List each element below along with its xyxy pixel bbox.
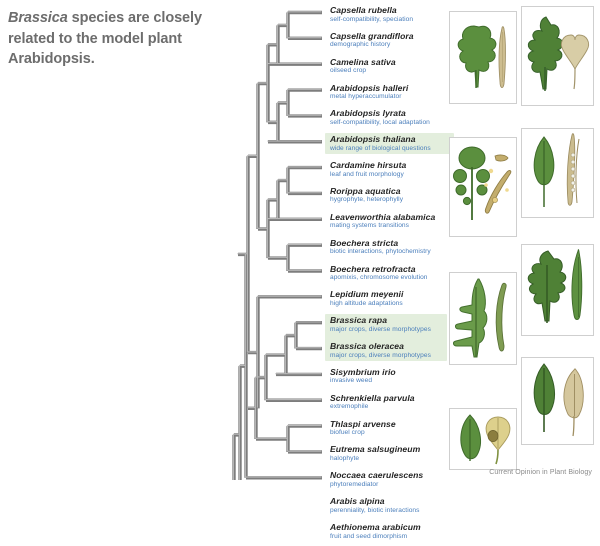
species-name: Aethionema arabicum	[330, 522, 421, 532]
tip-label: Aethionema arabicumfruit and seed dimorp…	[330, 522, 421, 546]
journal-credit: Current Opinion in Plant Biology	[489, 469, 592, 476]
cardamine-hirsuta-panel	[449, 137, 517, 237]
species-trait: wide range of biological questions	[330, 145, 431, 154]
tip-label: Capsella grandiflorademographic history	[330, 31, 414, 55]
species-name: Noccaea caerulescens	[330, 470, 423, 480]
species-trait: extremophile	[330, 403, 415, 412]
species-name: Brassica oleracea	[330, 341, 431, 351]
species-trait: leaf and fruit morphology	[330, 171, 406, 180]
tip-label: Brassica oleraceamajor crops, diverse mo…	[330, 341, 431, 365]
boechera-panel	[521, 128, 594, 218]
species-name: Capsella rubella	[330, 5, 413, 15]
species-name: Rorippa aquatica	[330, 186, 403, 196]
species-name: Boechera stricta	[330, 238, 431, 248]
species-name: Boechera retrofracta	[330, 264, 428, 274]
species-trait: mating systems transitions	[330, 222, 435, 231]
tip-label: Thlaspi arvensebiofuel crop	[330, 419, 396, 443]
species-trait: fruit and seed dimorphism	[330, 533, 421, 542]
species-name: Eutrema salsugineum	[330, 444, 420, 454]
species-name: Arabidopsis lyrata	[330, 108, 430, 118]
species-trait: high altitude adaptations	[330, 300, 403, 309]
tip-label: Eutrema salsugineumhalophyte	[330, 444, 420, 468]
species-name: Thlaspi arvense	[330, 419, 396, 429]
species-name: Leavenworthia alabamica	[330, 212, 435, 222]
species-trait: biofuel crop	[330, 429, 396, 438]
tip-label: Rorippa aquaticahygrophyte, heterophylly	[330, 186, 403, 210]
species-name: Schrenkiella parvula	[330, 393, 415, 403]
species-trait: major crops, diverse morphotypes	[330, 326, 431, 335]
species-trait: halophyte	[330, 455, 420, 464]
tip-label: Lepidium meyeniihigh altitude adaptation…	[330, 289, 403, 313]
species-trait: self-compatibility, speciation	[330, 16, 413, 25]
species-name: Brassica rapa	[330, 315, 431, 325]
tip-label: Arabidopsis hallerimetal hyperaccumulato…	[330, 83, 408, 107]
species-trait: oilseed crop	[330, 67, 396, 76]
species-name: Arabis alpina	[330, 496, 420, 506]
tip-label: Arabidopsis lyrataself-compatibility, lo…	[330, 108, 430, 132]
species-name: Sisymbrium irio	[330, 367, 396, 377]
capsella-grandiflora-panel	[521, 6, 594, 106]
tip-label: Camelina sativaoilseed crop	[330, 57, 396, 81]
tip-label: Arabidopsis thalianawide range of biolog…	[330, 134, 431, 158]
tip-label: Noccaea caerulescensphytoremediator	[330, 470, 423, 494]
species-trait: hygrophyte, heterophylly	[330, 196, 403, 205]
tip-label: Boechera strictabiotic interactions, phy…	[330, 238, 431, 262]
species-name: Capsella grandiflora	[330, 31, 414, 41]
species-name: Camelina sativa	[330, 57, 396, 67]
tip-label: Sisymbrium irioinvasive weed	[330, 367, 396, 391]
figure-root: Brassica species are closely related to …	[0, 0, 600, 480]
tip-label: Leavenworthia alabamicamating systems tr…	[330, 212, 435, 236]
tip-label: Boechera retrofractaapomixis, chromosome…	[330, 264, 428, 288]
species-name: Arabidopsis halleri	[330, 83, 408, 93]
sisymbrium-panel	[449, 272, 517, 365]
noccaea-panel	[521, 357, 594, 445]
capsella-rubella-panel	[449, 11, 517, 104]
tip-label: Schrenkiella parvulaextremophile	[330, 393, 415, 417]
tip-label: Brassica rapamajor crops, diverse morpho…	[330, 315, 431, 339]
species-trait: apomixis, chromosome evolution	[330, 274, 428, 283]
species-name: Arabidopsis thaliana	[330, 134, 431, 144]
species-trait: major crops, diverse morphotypes	[330, 352, 431, 361]
tip-label: Arabis alpinaperenniality, biotic intera…	[330, 496, 420, 520]
species-trait: demographic history	[330, 41, 414, 50]
species-trait: metal hyperaccumulator	[330, 93, 408, 102]
species-trait: invasive weed	[330, 377, 396, 386]
tip-label: Capsella rubellaself-compatibility, spec…	[330, 5, 413, 29]
species-name: Cardamine hirsuta	[330, 160, 406, 170]
species-trait: self-compatibility, local adaptation	[330, 119, 430, 128]
species-trait: perenniality, biotic interactions	[330, 507, 420, 516]
aethionema-panel	[449, 408, 517, 470]
species-trait: biotic interactions, phytochemistry	[330, 248, 431, 257]
brassica-panel	[521, 244, 594, 336]
species-trait: phytoremediator	[330, 481, 423, 490]
species-name: Lepidium meyenii	[330, 289, 403, 299]
tip-label: Cardamine hirsutaleaf and fruit morpholo…	[330, 160, 406, 184]
